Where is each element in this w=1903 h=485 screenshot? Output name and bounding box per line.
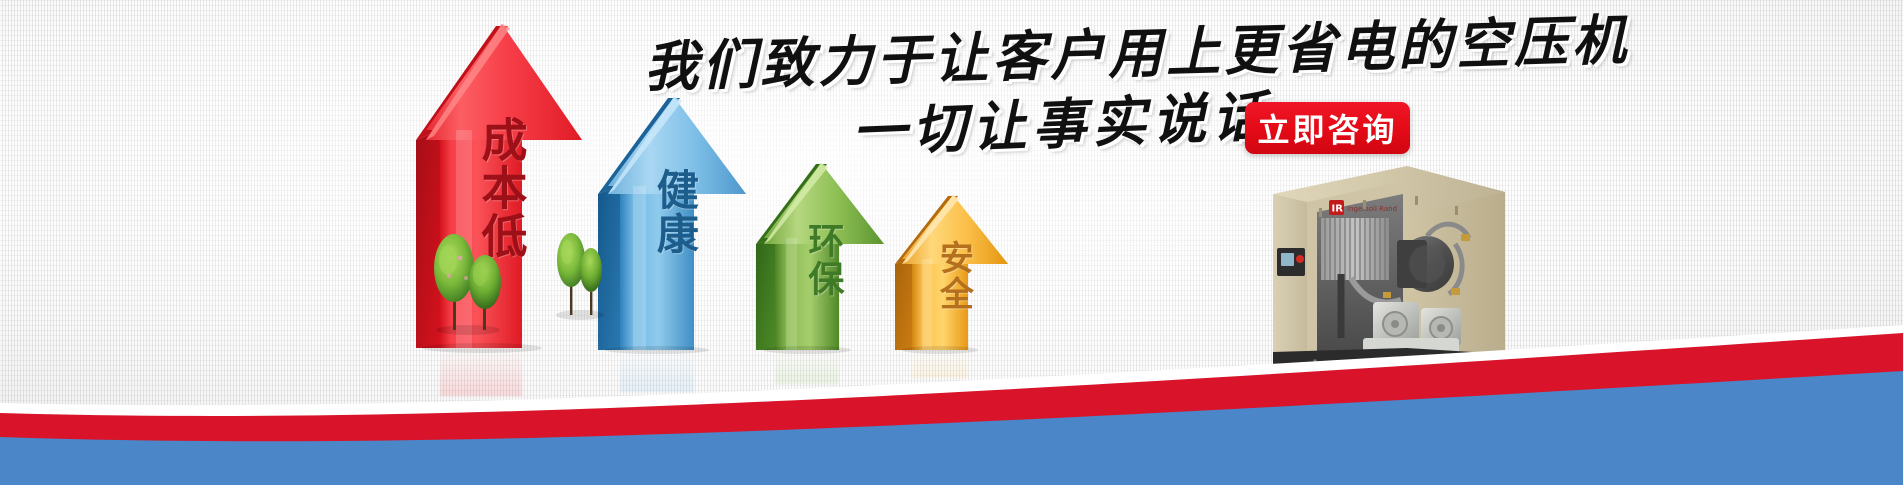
arrow-health-label: 健康 [653, 168, 696, 256]
svg-text:Ingersoll Rand: Ingersoll Rand [1347, 205, 1397, 213]
headline-line-2: 一切让事实说话 [850, 72, 1273, 167]
consult-now-button[interactable]: 立即咨询 [1245, 102, 1410, 154]
svg-text:IR: IR [1332, 204, 1344, 215]
promo-banner: 成本低 [0, 0, 1903, 485]
bottom-wave-decoration [0, 285, 1903, 485]
